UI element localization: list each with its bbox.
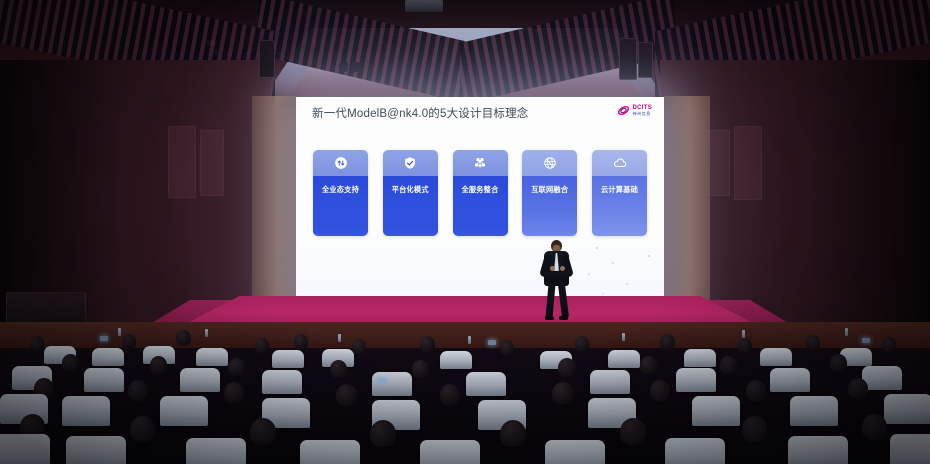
audience-head [352,339,366,354]
audience-seat [66,436,126,464]
proscenium-wood-right [664,96,710,321]
audience-head [228,358,245,376]
audience-seat [196,348,228,366]
audience-head [552,382,573,404]
audience-head [650,380,670,401]
card-icon-area [313,150,368,176]
audience-head [660,334,675,350]
audience-seat [890,434,930,464]
audience-head [412,360,429,378]
audience-head [742,416,767,442]
audience-head [62,354,79,372]
audience-seat [790,396,838,426]
audience-seat [676,368,716,392]
card-label: 互联网融合 [531,185,568,195]
audience-head [420,336,435,352]
card-body: 互联网融合 [522,176,577,236]
presenter-hand-right [560,266,565,271]
line-array-speaker-left [259,40,275,78]
presenter-shoe-right [559,316,568,320]
audience-seat [92,348,124,366]
audience-head [330,360,347,378]
audience-head [720,356,737,374]
audience-head [30,336,44,351]
water-bottle [468,336,471,344]
audience-head [224,382,244,403]
slide-card-pingtaihua: 平台化模式 [383,150,438,236]
audience-seat [300,440,360,464]
audience-phone-screen [100,336,108,341]
audience-head [370,420,396,447]
card-icon-area [592,150,647,176]
slide-card-hulianwang: 互联网融合 [522,150,577,236]
network-nodes-icon [473,156,487,170]
card-label: 云计算基础 [601,185,638,195]
water-bottle [622,333,625,341]
water-bottle [845,328,848,336]
card-body: 全业态支持 [313,176,368,236]
wall-panel [200,130,224,196]
shield-check-icon [403,156,417,170]
audience-head [500,420,526,447]
conference-stage-photo: 新一代ModelB@nk4.0的5大设计目标理念 DCITS 神州信息 [0,0,930,464]
card-label: 全业态支持 [322,185,359,195]
slide-card-row: 全业态支持 平台化模式 [313,150,647,236]
audience-seat [262,370,302,394]
audience-seat [440,351,472,369]
audience-seat [788,436,848,464]
microphone-icon [555,262,558,270]
audience-seat [760,348,792,366]
water-bottle [205,329,208,337]
audience-seat [372,372,412,396]
water-bottle [742,330,745,338]
audience-head [620,418,646,445]
arrows-circle-icon [334,156,348,170]
projection-screen: 新一代ModelB@nk4.0的5大设计目标理念 DCITS 神州信息 [296,97,664,319]
audience-seat [466,372,506,396]
audience-head [848,378,868,399]
audience-head [336,384,357,406]
front-table-row [0,322,930,348]
audience-head [882,337,896,352]
audience-head [806,335,820,350]
card-icon-area [383,150,438,176]
audience-seat [692,396,740,426]
card-body: 全服务整合 [453,176,508,236]
audience-head [294,334,308,349]
audience-seat [884,394,930,424]
card-icon-area [453,150,508,176]
slide-card-quanfuwu: 全服务整合 [453,150,508,236]
slide-title: 新一代ModelB@nk4.0的5大设计目标理念 [312,105,529,121]
wall-panel [734,126,762,200]
audience-head [130,416,155,442]
audience-head [255,338,269,353]
audience-head [128,380,148,401]
proscenium-wood-left [252,96,298,321]
presenter-hand-left [550,266,555,271]
water-bottle [118,328,121,336]
audience-seat [180,368,220,392]
audience-head [558,358,576,377]
audience-seat [608,350,640,368]
audience-seat [545,440,605,464]
audience-phone-screen [488,340,496,345]
audience-phone-screen [378,378,386,383]
audience-seat [862,366,902,390]
cloud-icon [613,156,627,170]
dcits-swoosh-logo-icon [617,104,630,117]
audience-head [746,380,766,401]
audience-seat [420,440,480,464]
audience-head [440,384,460,405]
globe-icon [543,156,557,170]
line-array-speaker-right [619,38,637,80]
audience-head [500,340,514,355]
presenter-shoe-left [545,316,554,320]
audience-head [575,336,589,351]
presenter-leg-right [558,284,569,319]
card-body: 云计算基础 [592,176,647,236]
ceiling-projector [405,0,443,12]
slide-card-quanyetai: 全业态支持 [313,150,368,236]
audience-seat [684,349,716,367]
audience-head [250,418,276,445]
audience-seat [590,370,630,394]
audience-seat [62,396,110,426]
stage-spotlight [352,62,361,72]
audience-head [862,414,887,440]
audience-head [738,338,752,353]
audience-head [830,354,847,372]
presenter-leg-left [546,284,556,318]
audience-seat [160,396,208,426]
stage-spotlight [339,62,348,72]
wall-panel [168,126,196,198]
line-array-speaker-right-2 [638,42,653,78]
audience-seat [84,368,124,392]
card-label: 全服务整合 [462,185,499,195]
presenter [536,240,578,326]
audience-phone-screen [862,338,870,343]
audience-area [0,322,930,464]
audience-seat [186,438,246,464]
card-body: 平台化模式 [383,176,438,236]
audience-seat [665,438,725,464]
brand-logo: DCITS 神州信息 [617,104,652,117]
audience-head [122,334,136,349]
audience-head [150,356,167,374]
logo-chinese-text: 神州信息 [633,112,653,116]
audience-seat [770,368,810,392]
slide-card-yunjisuan: 云计算基础 [592,150,647,236]
audience-seat [272,350,304,368]
card-icon-area [522,150,577,176]
presenter-legs [547,284,567,320]
audience-head [640,356,657,374]
card-label: 平台化模式 [392,185,429,195]
audience-head [176,330,191,346]
audience-seat [0,434,50,464]
water-bottle [338,334,341,342]
